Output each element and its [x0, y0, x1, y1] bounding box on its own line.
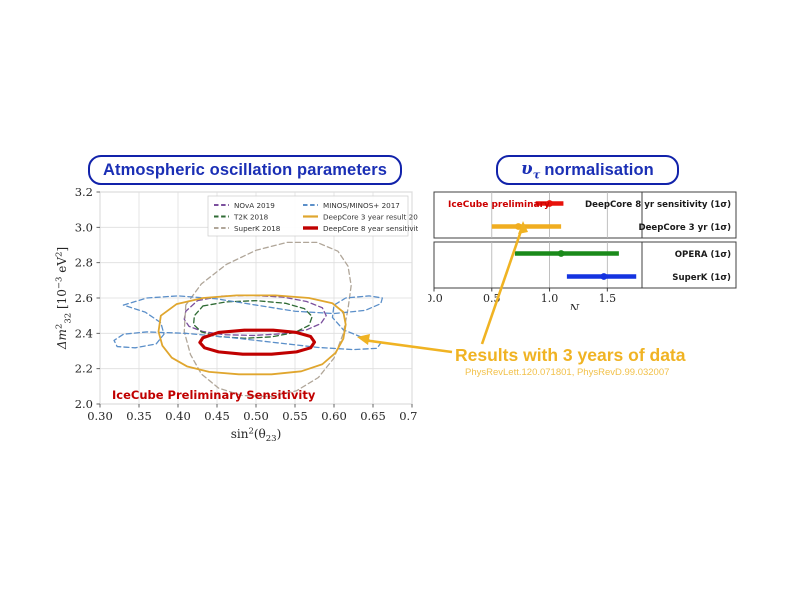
- right-plot-svg: DeepCore 8 yr sensitivity (1σ)DeepCore 3…: [428, 186, 742, 310]
- left-plot-ytick-label: 2.0: [75, 397, 93, 411]
- legend-label-deepcore-8-year-sensitivity: DeepCore 8 year sensitivity: [323, 224, 418, 233]
- left-plot-svg: 0.300.350.400.450.500.550.600.650.702.02…: [52, 188, 418, 450]
- nu-tau-normalisation-plot: DeepCore 8 yr sensitivity (1σ)DeepCore 3…: [428, 186, 742, 310]
- errorbar-point-deepcore-3-yr-1: [515, 223, 522, 230]
- measurement-label-deepcore-8-yr-sensitivity-1: DeepCore 8 yr sensitivity (1σ): [585, 200, 731, 210]
- legend-label-t2k-2018: T2K 2018: [233, 213, 269, 222]
- right-plot-xtick-label: 1.0: [541, 292, 559, 305]
- nu-tau-symbol: υτ: [521, 159, 540, 181]
- annotation-headline: Results with 3 years of data: [455, 345, 775, 365]
- right-panel-title-text: normalisation: [544, 161, 654, 180]
- right-plot-xtick-label: 0.5: [483, 292, 501, 305]
- icecube-preliminary-label: IceCube preliminary: [448, 200, 550, 210]
- legend-label-deepcore-3-year-result-2018: DeepCore 3 year result 2018: [323, 213, 418, 222]
- measurement-label-opera-1: OPERA (1σ): [675, 250, 731, 260]
- errorbar-point-superk-1: [600, 273, 607, 280]
- right-plot-xtick-label: 0.0: [428, 292, 443, 305]
- left-plot-xtick-label: 0.40: [165, 409, 191, 423]
- atmospheric-oscillation-contour-plot: 0.300.350.400.450.500.550.600.650.702.02…: [52, 188, 418, 450]
- left-plot-xtick-label: 0.70: [399, 409, 418, 423]
- legend-label-nova-2019: NOvA 2019: [234, 201, 275, 210]
- left-plot-xaxis-label: sin2(θ23): [231, 427, 282, 445]
- left-plot-ytick-label: 2.4: [75, 326, 93, 340]
- measurement-label-superk-1: SuperK (1σ): [672, 273, 731, 283]
- errorbar-point-opera-1: [558, 250, 565, 257]
- left-plot-ytick-label: 3.2: [75, 188, 93, 199]
- left-plot-xtick-label: 0.65: [360, 409, 386, 423]
- annotation-citation: PhysRevLett.120.071801, PhysRevD.99.0320…: [455, 367, 775, 378]
- left-plot-xtick-label: 0.55: [282, 409, 308, 423]
- left-plot-ytick-label: 3.0: [75, 220, 93, 234]
- legend-label-minos-minos-2017: MINOS/MINOS+ 2017: [323, 201, 400, 210]
- left-plot-ytick-label: 2.8: [75, 256, 93, 270]
- left-plot-ytick-label: 2.6: [75, 291, 93, 305]
- legend-label-superk-2018: SuperK 2018: [234, 224, 281, 233]
- annotation-block: Results with 3 years of data PhysRevLett…: [455, 345, 775, 378]
- left-plot-xtick-label: 0.60: [321, 409, 347, 423]
- left-plot-ytick-label: 2.2: [75, 362, 93, 376]
- left-panel-title-text: Atmospheric oscillation parameters: [103, 161, 387, 180]
- icecube-preliminary-watermark: IceCube Preliminary Sensitivity: [112, 388, 316, 402]
- right-panel-title-pill: υτ normalisation: [496, 155, 679, 185]
- left-plot-xtick-label: 0.30: [87, 409, 113, 423]
- left-plot-xtick-label: 0.35: [126, 409, 152, 423]
- measurement-label-deepcore-3-yr-1: DeepCore 3 yr (1σ): [638, 223, 731, 233]
- right-plot-xaxis-label: Nντ: [569, 302, 589, 310]
- left-plot-xtick-label: 0.50: [243, 409, 269, 423]
- left-plot-yaxis-label: Δm232 [10−3 eV2]: [55, 247, 74, 350]
- right-plot-xtick-label: 1.5: [599, 292, 617, 305]
- left-plot-xtick-label: 0.45: [204, 409, 230, 423]
- left-panel-title-pill: Atmospheric oscillation parameters: [88, 155, 402, 185]
